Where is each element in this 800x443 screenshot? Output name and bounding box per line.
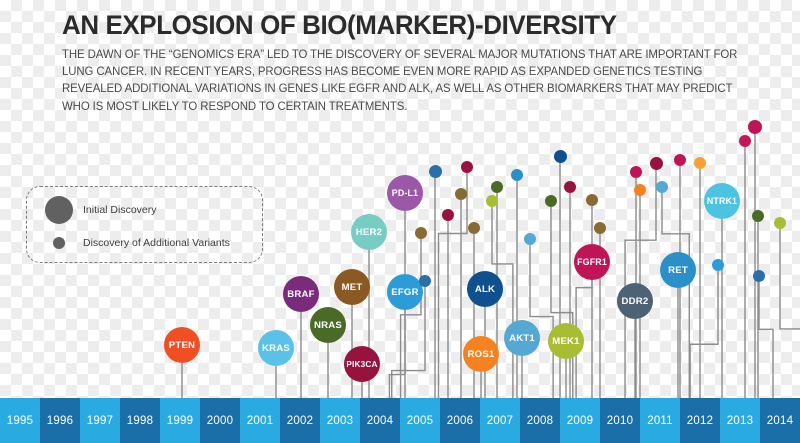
variant-dot[interactable] <box>524 233 536 245</box>
variant-dot[interactable] <box>461 161 473 173</box>
variant-dot[interactable] <box>753 270 765 282</box>
year-cell-2009[interactable]: 2009 <box>560 398 600 443</box>
year-cell-2008[interactable]: 2008 <box>520 398 560 443</box>
variant-dot[interactable] <box>748 120 762 134</box>
year-cell-2007[interactable]: 2007 <box>480 398 520 443</box>
variant-dot[interactable] <box>739 135 751 147</box>
marker-stem <box>548 359 566 398</box>
year-cell-2003[interactable]: 2003 <box>320 398 360 443</box>
variant-dot[interactable] <box>486 195 498 207</box>
marker-stem <box>780 229 800 398</box>
variant-dot[interactable] <box>712 259 724 271</box>
variant-dot[interactable] <box>419 275 431 287</box>
marker-pik3ca[interactable]: PIK3CA <box>344 346 380 382</box>
variant-dot[interactable] <box>468 222 480 234</box>
marker-ros1[interactable]: ROS1 <box>463 336 499 372</box>
variant-dot[interactable] <box>594 222 606 234</box>
marker-stem <box>690 271 718 398</box>
variant-dot[interactable] <box>694 157 706 169</box>
legend-item: Initial Discovery <box>45 196 157 224</box>
year-cell-1999[interactable]: 1999 <box>160 398 200 443</box>
marker-stem <box>576 206 592 398</box>
year-cell-2004[interactable]: 2004 <box>360 398 400 443</box>
legend-label: Initial Discovery <box>83 204 157 216</box>
marker-stem <box>662 193 689 398</box>
variant-dot[interactable] <box>650 157 663 170</box>
variant-dot[interactable] <box>586 194 598 206</box>
legend-swatch-large <box>45 196 73 224</box>
variant-dot[interactable] <box>545 195 557 207</box>
marker-fgfr1[interactable]: FGFR1 <box>574 244 610 280</box>
marker-mek1[interactable]: MEK1 <box>548 323 584 359</box>
legend-item: Discovery of Additional Variants <box>45 237 230 249</box>
variant-dot[interactable] <box>554 150 567 163</box>
marker-stem <box>439 173 467 398</box>
variant-dot[interactable] <box>442 209 454 221</box>
year-cell-2012[interactable]: 2012 <box>680 398 720 443</box>
marker-pten[interactable]: PTEN <box>164 327 200 363</box>
variant-dot[interactable] <box>752 210 764 222</box>
marker-ntrk1[interactable]: NTRK1 <box>704 183 740 219</box>
variant-dot[interactable] <box>674 154 686 166</box>
variant-dot[interactable] <box>511 169 523 181</box>
year-cell-1997[interactable]: 1997 <box>80 398 120 443</box>
year-cell-2000[interactable]: 2000 <box>200 398 240 443</box>
year-cell-2006[interactable]: 2006 <box>440 398 480 443</box>
year-axis: 1995199619971998199920002001200220032004… <box>0 398 800 443</box>
year-cell-2002[interactable]: 2002 <box>280 398 320 443</box>
marker-kras[interactable]: KRAS <box>258 330 294 366</box>
year-cell-1996[interactable]: 1996 <box>40 398 80 443</box>
marker-alk[interactable]: ALK <box>467 271 503 307</box>
variant-dot[interactable] <box>656 181 668 193</box>
marker-efgr[interactable]: EFGR <box>387 274 423 310</box>
year-cell-1995[interactable]: 1995 <box>0 398 40 443</box>
year-cell-2001[interactable]: 2001 <box>240 398 280 443</box>
infographic-canvas: AN EXPLOSION OF BIO(MARKER)-DIVERSITY TH… <box>0 0 800 443</box>
marker-stem <box>530 245 553 398</box>
marker-stem <box>759 282 773 398</box>
year-cell-2005[interactable]: 2005 <box>400 398 440 443</box>
variant-dot[interactable] <box>429 165 442 178</box>
marker-ddr2[interactable]: DDR2 <box>617 283 653 319</box>
marker-her2[interactable]: HER2 <box>351 214 387 250</box>
year-cell-2014[interactable]: 2014 <box>760 398 800 443</box>
marker-stem <box>620 319 635 398</box>
year-cell-2011[interactable]: 2011 <box>640 398 680 443</box>
legend-box: Initial DiscoveryDiscovery of Additional… <box>26 186 263 263</box>
variant-dot[interactable] <box>630 166 642 178</box>
marker-braf[interactable]: BRAF <box>283 276 319 312</box>
variant-dot[interactable] <box>564 181 576 193</box>
marker-nras[interactable]: NRAS <box>310 307 346 343</box>
variant-dot[interactable] <box>634 184 646 196</box>
variant-dot[interactable] <box>491 181 503 193</box>
marker-stem <box>344 382 362 398</box>
variant-dot[interactable] <box>774 217 786 229</box>
year-cell-1998[interactable]: 1998 <box>120 398 160 443</box>
marker-pd-l1[interactable]: PD-L1 <box>387 175 423 211</box>
variant-dot[interactable] <box>415 227 427 239</box>
legend-swatch-small <box>53 237 65 249</box>
marker-met[interactable]: MET <box>334 269 370 305</box>
variant-dot[interactable] <box>455 188 467 200</box>
marker-akt1[interactable]: AKT1 <box>504 320 540 356</box>
legend-label: Discovery of Additional Variants <box>83 237 230 249</box>
year-cell-2013[interactable]: 2013 <box>720 398 760 443</box>
year-cell-2010[interactable]: 2010 <box>600 398 640 443</box>
marker-ret[interactable]: RET <box>660 252 696 288</box>
